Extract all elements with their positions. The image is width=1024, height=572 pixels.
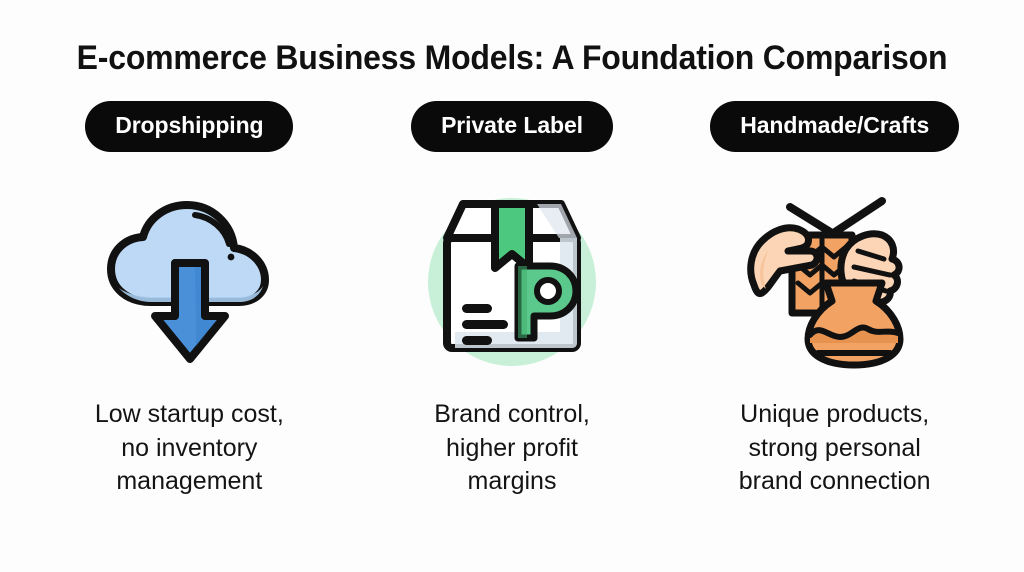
page-title: E-commerce Business Models: A Foundation… xyxy=(31,40,994,77)
pill-label-handmade-crafts[interactable]: Handmade/Crafts xyxy=(710,101,959,152)
column-private-label: Private Label xyxy=(351,101,674,499)
caption-private-label: Brand control, higher profit margins xyxy=(434,398,590,499)
pill-label-dropshipping[interactable]: Dropshipping xyxy=(85,101,293,152)
infographic-root: E-commerce Business Models: A Foundation… xyxy=(0,0,1024,572)
caption-handmade-crafts: Unique products, strong personal brand c… xyxy=(739,398,931,499)
column-handmade-crafts: Handmade/Crafts xyxy=(673,101,996,499)
comparison-columns: Dropshipping Low st xyxy=(0,101,1024,499)
pill-label-private-label[interactable]: Private Label xyxy=(411,101,613,152)
icon-area-private-label xyxy=(419,186,605,376)
column-dropshipping: Dropshipping Low st xyxy=(28,101,351,499)
knitting-hands-pottery-icon xyxy=(740,189,930,374)
cloud-download-icon xyxy=(99,189,279,374)
caption-dropshipping: Low startup cost, no inventory managemen… xyxy=(95,398,284,499)
title-container: E-commerce Business Models: A Foundation… xyxy=(0,0,1024,77)
icon-area-dropshipping xyxy=(99,186,279,376)
icon-area-handmade-crafts xyxy=(740,186,930,376)
branded-package-box-icon xyxy=(419,186,605,376)
